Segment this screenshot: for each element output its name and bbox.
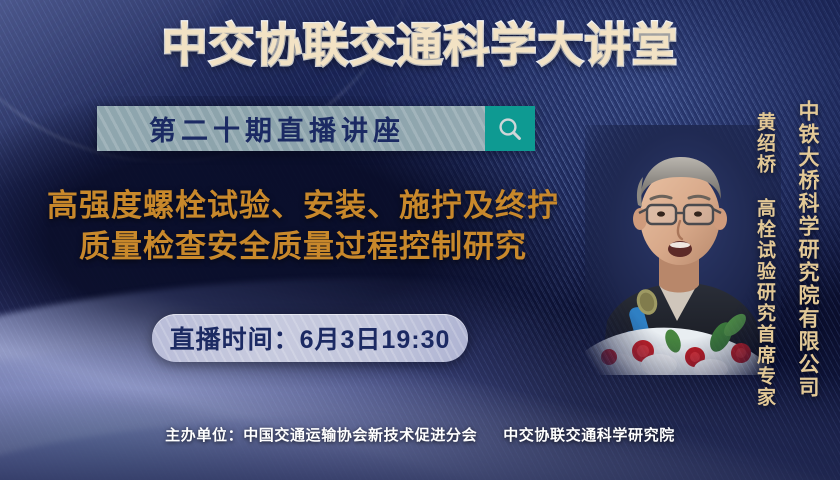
footer-organizer-2: 中交协联交通科学研究院	[503, 427, 675, 444]
lecture-headline: 高强度螺栓试验、安装、施拧及终拧 质量检查安全质量过程控制研究	[6, 186, 600, 268]
speaker-company-caption: 中铁大桥科学研究院有限公司	[792, 100, 822, 399]
broadcast-time-label: 直播时间：6月3日19:30	[170, 320, 451, 356]
series-banner: 第二十期直播讲座	[97, 106, 535, 151]
lecture-headline-line-2: 质量检查安全质量过程控制研究	[6, 227, 600, 268]
footer-prefix: 主办单位：	[165, 427, 243, 444]
broadcast-time-pill: 直播时间：6月3日19:30	[152, 314, 468, 362]
series-banner-label: 第二十期直播讲座	[143, 109, 405, 148]
speaker-name-role-caption: 黄绍桥 高栓试验研究首席专家	[751, 112, 778, 408]
search-icon-box[interactable]	[485, 106, 535, 151]
poster-title: 中交协联交通科学大讲堂	[0, 22, 840, 68]
footer-organizer-1: 中国交通运输协会新技术促进分会	[243, 427, 477, 444]
series-banner-body: 第二十期直播讲座	[97, 106, 485, 151]
poster-title-text: 中交协联交通科学大讲堂	[162, 19, 679, 71]
live-lecture-poster: 中交协联交通科学大讲堂 第二十期直播讲座 高强度螺栓试验、安装、施拧及终拧 质量…	[0, 0, 840, 480]
footer-organizers: 主办单位：中国交通运输协会新技术促进分会中交协联交通科学研究院	[0, 424, 840, 445]
lecture-headline-line-1: 高强度螺栓试验、安装、施拧及终拧	[47, 188, 559, 223]
search-icon	[497, 116, 523, 142]
